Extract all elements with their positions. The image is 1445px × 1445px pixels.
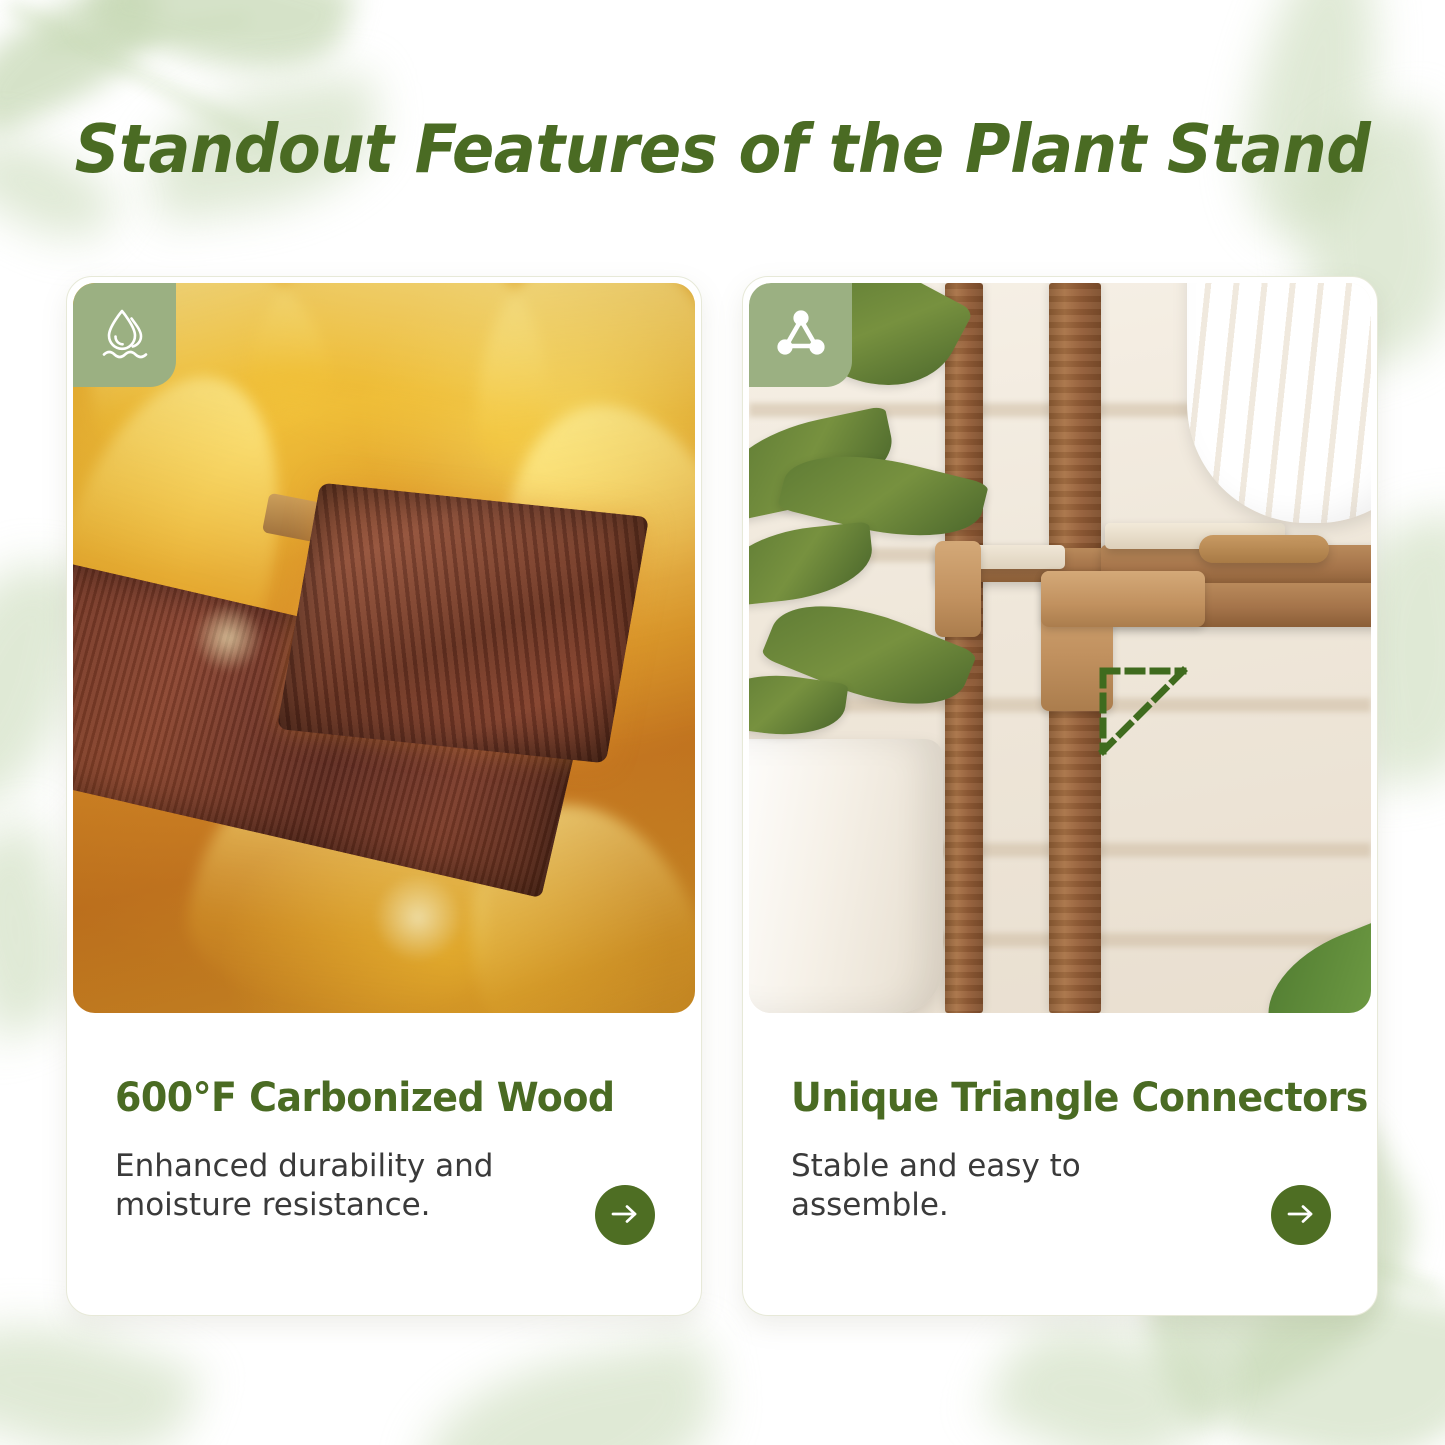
triangle-connector [935,541,981,637]
feature-card-carbonized-wood[interactable]: 600°F Carbonized Wood Enhanced durabilit… [66,276,702,1316]
page-title: Standout Features of the Plant Stand [51,110,1395,188]
card-image-burning-log [73,283,695,1013]
fire-vignette [73,283,695,1013]
arrow-right-icon [1286,1203,1316,1228]
leaf-stem [40,15,249,52]
decorative-leaf [409,1335,730,1445]
card-arrow-button[interactable] [595,1185,655,1245]
triangle-nodes-connector-icon [775,308,827,363]
arrow-right-icon [610,1203,640,1228]
shelf-dowel [1199,535,1329,563]
feature-card-triangle-connectors[interactable]: Unique Triangle Connectors Stable and ea… [742,276,1378,1316]
card-image-plant-stand [749,283,1371,1013]
decorative-leaf [982,1295,1218,1445]
card-text-area: 600°F Carbonized Wood Enhanced durabilit… [67,1013,701,1315]
card-title: 600°F Carbonized Wood [115,1075,628,1121]
card-arrow-button[interactable] [1271,1185,1331,1245]
card-description: Enhanced durability and moisture resista… [115,1147,555,1225]
card-title: Unique Triangle Connectors [791,1075,1304,1121]
card-text-area: Unique Triangle Connectors Stable and ea… [743,1013,1377,1315]
triangle-connector-arm [1041,571,1205,627]
card-description: Stable and easy to assemble. [791,1147,1231,1225]
badge-triangle-connector [749,283,852,387]
decorative-leaf [0,1294,202,1445]
feature-card-grid: 600°F Carbonized Wood Enhanced durabilit… [66,276,1379,1316]
decorative-leaf [86,0,357,96]
badge-moisture-resistance [73,283,176,387]
triangle-highlight-annotation [1097,665,1189,762]
white-planter-lower [749,739,943,1013]
water-drop-moisture-icon [98,305,152,366]
